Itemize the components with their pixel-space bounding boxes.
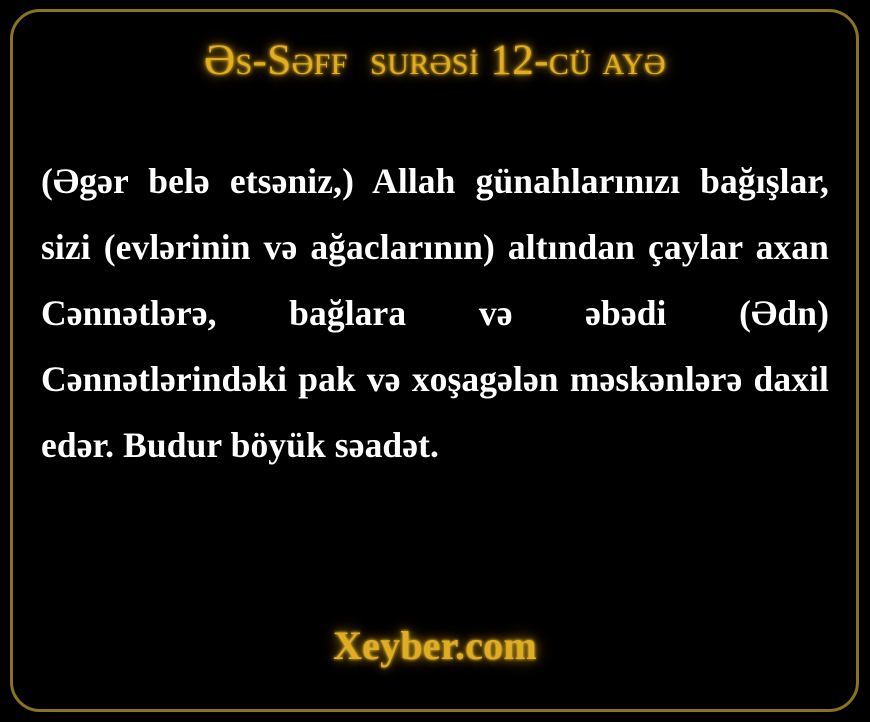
verse-body: (Əgər belə etsəniz,) Allah günahlarınızı… <box>41 148 829 478</box>
site-watermark: Xeyber.com <box>40 622 830 669</box>
verse-slide: Əs-Səff surəsi 12-cü ayə (Əgər belə etsə… <box>0 0 870 722</box>
slide-content: Əs-Səff surəsi 12-cü ayə (Əgər belə etsə… <box>0 0 870 722</box>
verse-paragraph: (Əgər belə etsəniz,) Allah günahlarınızı… <box>41 148 829 478</box>
page-title: Əs-Səff surəsi 12-cü ayə <box>40 37 830 85</box>
